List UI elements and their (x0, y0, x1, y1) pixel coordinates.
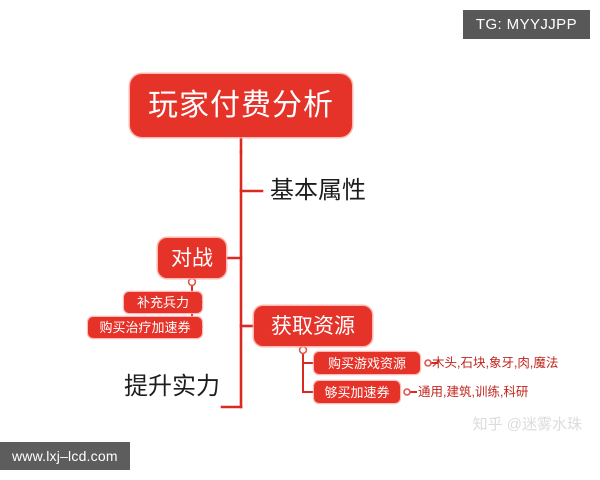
branch-node-get-resources[interactable]: 获取资源 (254, 306, 372, 346)
connector-dot-note-1 (425, 360, 431, 366)
connector-dot-note-2 (404, 389, 410, 395)
branch-node-battle[interactable]: 对战 (158, 238, 226, 278)
annotation-game-resources: 木头,石块,象牙,肉,魔法 (432, 357, 558, 370)
leaf-node-buy-heal-speedup[interactable]: 购买治疗加速券 (88, 317, 202, 338)
connector-dot-battle (189, 279, 196, 286)
telegram-tag-watermark: TG: MYYJJPP (463, 10, 590, 39)
branch-label-basic-attributes: 基本属性 (270, 179, 366, 203)
leaf-node-buy-speedup-label: 够买加速券 (324, 386, 389, 399)
connector-lines (0, 0, 600, 480)
mindmap-root-label: 玩家付费分析 (148, 91, 334, 121)
site-url-watermark: www.lxj–lcd.com (0, 442, 130, 470)
branch-node-battle-label: 对战 (171, 248, 213, 269)
leaf-node-replenish-troops[interactable]: 补充兵力 (124, 292, 202, 313)
leaf-node-buy-game-resources[interactable]: 购买游戏资源 (314, 352, 420, 374)
leaf-node-buy-speedup[interactable]: 够买加速券 (314, 381, 400, 403)
leaf-node-replenish-troops-label: 补充兵力 (137, 296, 189, 309)
mindmap-root-node[interactable]: 玩家付费分析 (130, 74, 352, 137)
connector-dot-resources (300, 347, 307, 354)
zhihu-watermark: 知乎 @迷雾水珠 (473, 417, 582, 432)
branch-label-improve-power: 提升实力 (124, 375, 220, 399)
mindmap-canvas: 玩家付费分析 基本属性 提升实力 对战 获取资源 补充兵力 购买治疗加速券 购买… (0, 0, 600, 480)
branch-node-get-resources-label: 获取资源 (271, 316, 355, 337)
annotation-speedup-types: 通用,建筑,训练,科研 (418, 386, 528, 399)
leaf-node-buy-heal-speedup-label: 购买治疗加速券 (99, 321, 190, 334)
leaf-node-buy-game-resources-label: 购买游戏资源 (328, 357, 406, 370)
